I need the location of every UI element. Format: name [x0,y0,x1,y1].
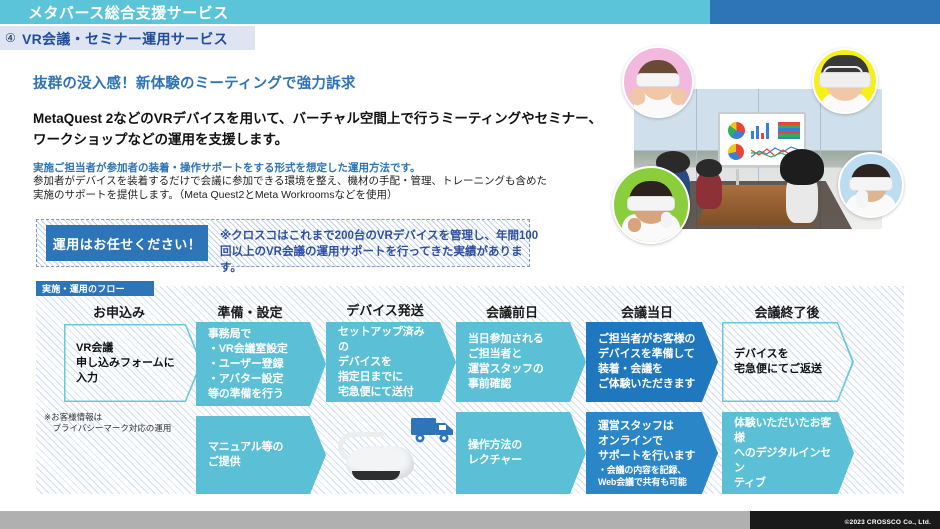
delivery-truck-icon [410,412,456,446]
flow-box-2-0: セットアップ済みの デバイスを 指定日までに 宅急便にて送付 [326,322,456,402]
flow-box-4-1: 運営スタッフは オンラインで サポートを行います ・会議の内容を記録、 Web会… [586,412,718,494]
callout-text: ※クロスコはこれまで200台のVRデバイスを管理し、年間100回以上のVR会議の… [220,228,540,276]
callout-button: 運用はお任せください！ [46,225,208,261]
note-body: 参加者がデバイスを装着するだけで会議に参加できる環境を整え、機材の手配・管理、ト… [33,174,553,202]
flow-box-1-1-l0: マニュアル等の [208,441,283,453]
flow-tag: 実施・運用のフロー [36,281,154,296]
flow-box-5-0-l0: デバイスを [734,348,789,360]
flow-box-4-0: ご担当者がお客様の デバイスを準備して 装着・会議を ご体験いただきます [586,322,718,402]
flow-col-head-0: お申込み [44,302,194,321]
flow-box-0-0: VR会議 申し込みフォームに 入力 [64,324,202,402]
photo-man-blue [838,152,904,218]
flow-box-4-1-s1: Web会議で共有も可能 [598,476,695,488]
slide: メタバース総合支援サービス ④ VR会議・セミナー運用サービス 抜群の没入感！新… [0,0,940,529]
vr-meeting-collage [612,44,938,269]
note-highlight: 実施ご担当者が参加者の装着・操作サポートをする形式を想定した運用方法です。 [33,160,420,175]
flow-box-3-0-l0: 当日参加される [468,333,544,345]
flow-box-1-0-l3: ・アバター設定 [208,373,283,385]
flow-box-1-1: マニュアル等の ご提供 [196,416,326,494]
flow-box-5-1-l1: へのデジタルインセン [734,447,831,474]
flow-col-head-5: 会議終了後 [712,302,862,321]
flow-box-3-0-l1: ご担当者と [468,348,522,360]
flow-box-4-0-l3: ご体験いただきます [598,378,695,390]
photo-woman-pink [622,46,694,118]
flow-box-1-0: 事務局で ・VR会議室設定 ・ユーザー登録 ・アバター設定 等の準備を行う [196,322,326,406]
flow-box-5-0: デバイスを 宅急便にてご返送 [722,322,854,402]
flow-col-head-2: デバイス発送 [310,300,460,319]
copyright: ©2023 CROSSCO Co., Ltd. [845,519,931,526]
flow-box-3-0-l2: 運営スタッフの [468,363,544,375]
flow-box-1-0-l4: 等の準備を行う [208,388,284,400]
photo-man-green [612,166,690,244]
flow-box-3-1: 操作方法の レクチャー [456,412,586,494]
section-number: ④ [5,30,16,46]
flow-box-4-1-s0: ・会議の内容を記録、 [598,464,695,476]
flow-box-3-0: 当日参加される ご担当者と 運営スタッフの 事前確認 [456,322,586,402]
flow-box-5-1-l0: 体験いただいたお客様 [734,417,831,444]
flow-footnote-0: ※お客様情報は プライバシーマーク対応の運用 [44,412,209,434]
flow-box-1-1-l1: ご提供 [208,456,240,468]
flow-box-4-0-l0: ご担当者がお客様の [598,333,695,345]
flow-box-3-1-l0: 操作方法の [468,439,522,451]
lead-headline: 抜群の没入感！新体験のミーティングで強力訴求 [33,72,356,93]
flow-box-0-0-l2: 入力 [76,372,98,384]
flow-col-head-3: 会議前日 [442,302,582,321]
flow-box-4-0-l1: デバイスを準備して [598,348,695,360]
flow-box-4-0-l2: 装着・会議を [598,363,663,375]
flow-col-head-4: 会議当日 [572,302,722,321]
flow-box-0-0-l0: VR会議 [76,342,113,354]
flow-box-1-0-l2: ・ユーザー登録 [208,358,283,370]
flow-box-5-0-l1: 宅急便にてご返送 [734,363,822,375]
flow-box-2-0-l1: デバイスを [338,356,392,368]
flow-box-1-0-l0: 事務局で [208,328,251,340]
flow-box-4-1-l1: オンラインで [598,435,663,447]
flow-box-5-1: 体験いただいたお客様 へのデジタルインセン ティブ [722,412,854,494]
flow-box-4-1-l2: サポートを行います [598,450,695,462]
flow-box-5-1-l2: ティブ [734,477,766,489]
page-title: メタバース総合支援サービス [28,2,229,23]
callout-button-label: 運用はお任せください！ [53,234,202,253]
flow-box-2-0-l2: 指定日までに [338,371,403,383]
section-title: VR会議・セミナー運用サービス [22,29,228,49]
flow-box-2-0-l0: セットアップ済みの [338,326,424,353]
flow-box-3-0-l3: 事前確認 [468,378,511,390]
flow-box-2-0-l3: 宅急便にて送付 [338,386,414,398]
photo-man-yellow [812,48,878,114]
flow-box-3-1-l1: レクチャー [468,454,522,466]
flow-box-4-1-l0: 運営スタッフは [598,420,674,432]
flow-col-head-1: 準備・設定 [180,302,320,321]
header-band-blue [710,0,940,24]
flow-box-0-0-l1: 申し込みフォームに [76,357,175,369]
intro-body: MetaQuest 2などのVRデバイスを用いて、バーチャル空間上で行うミーティ… [33,108,603,150]
flow-box-1-0-l1: ・VR会議室設定 [208,343,288,355]
